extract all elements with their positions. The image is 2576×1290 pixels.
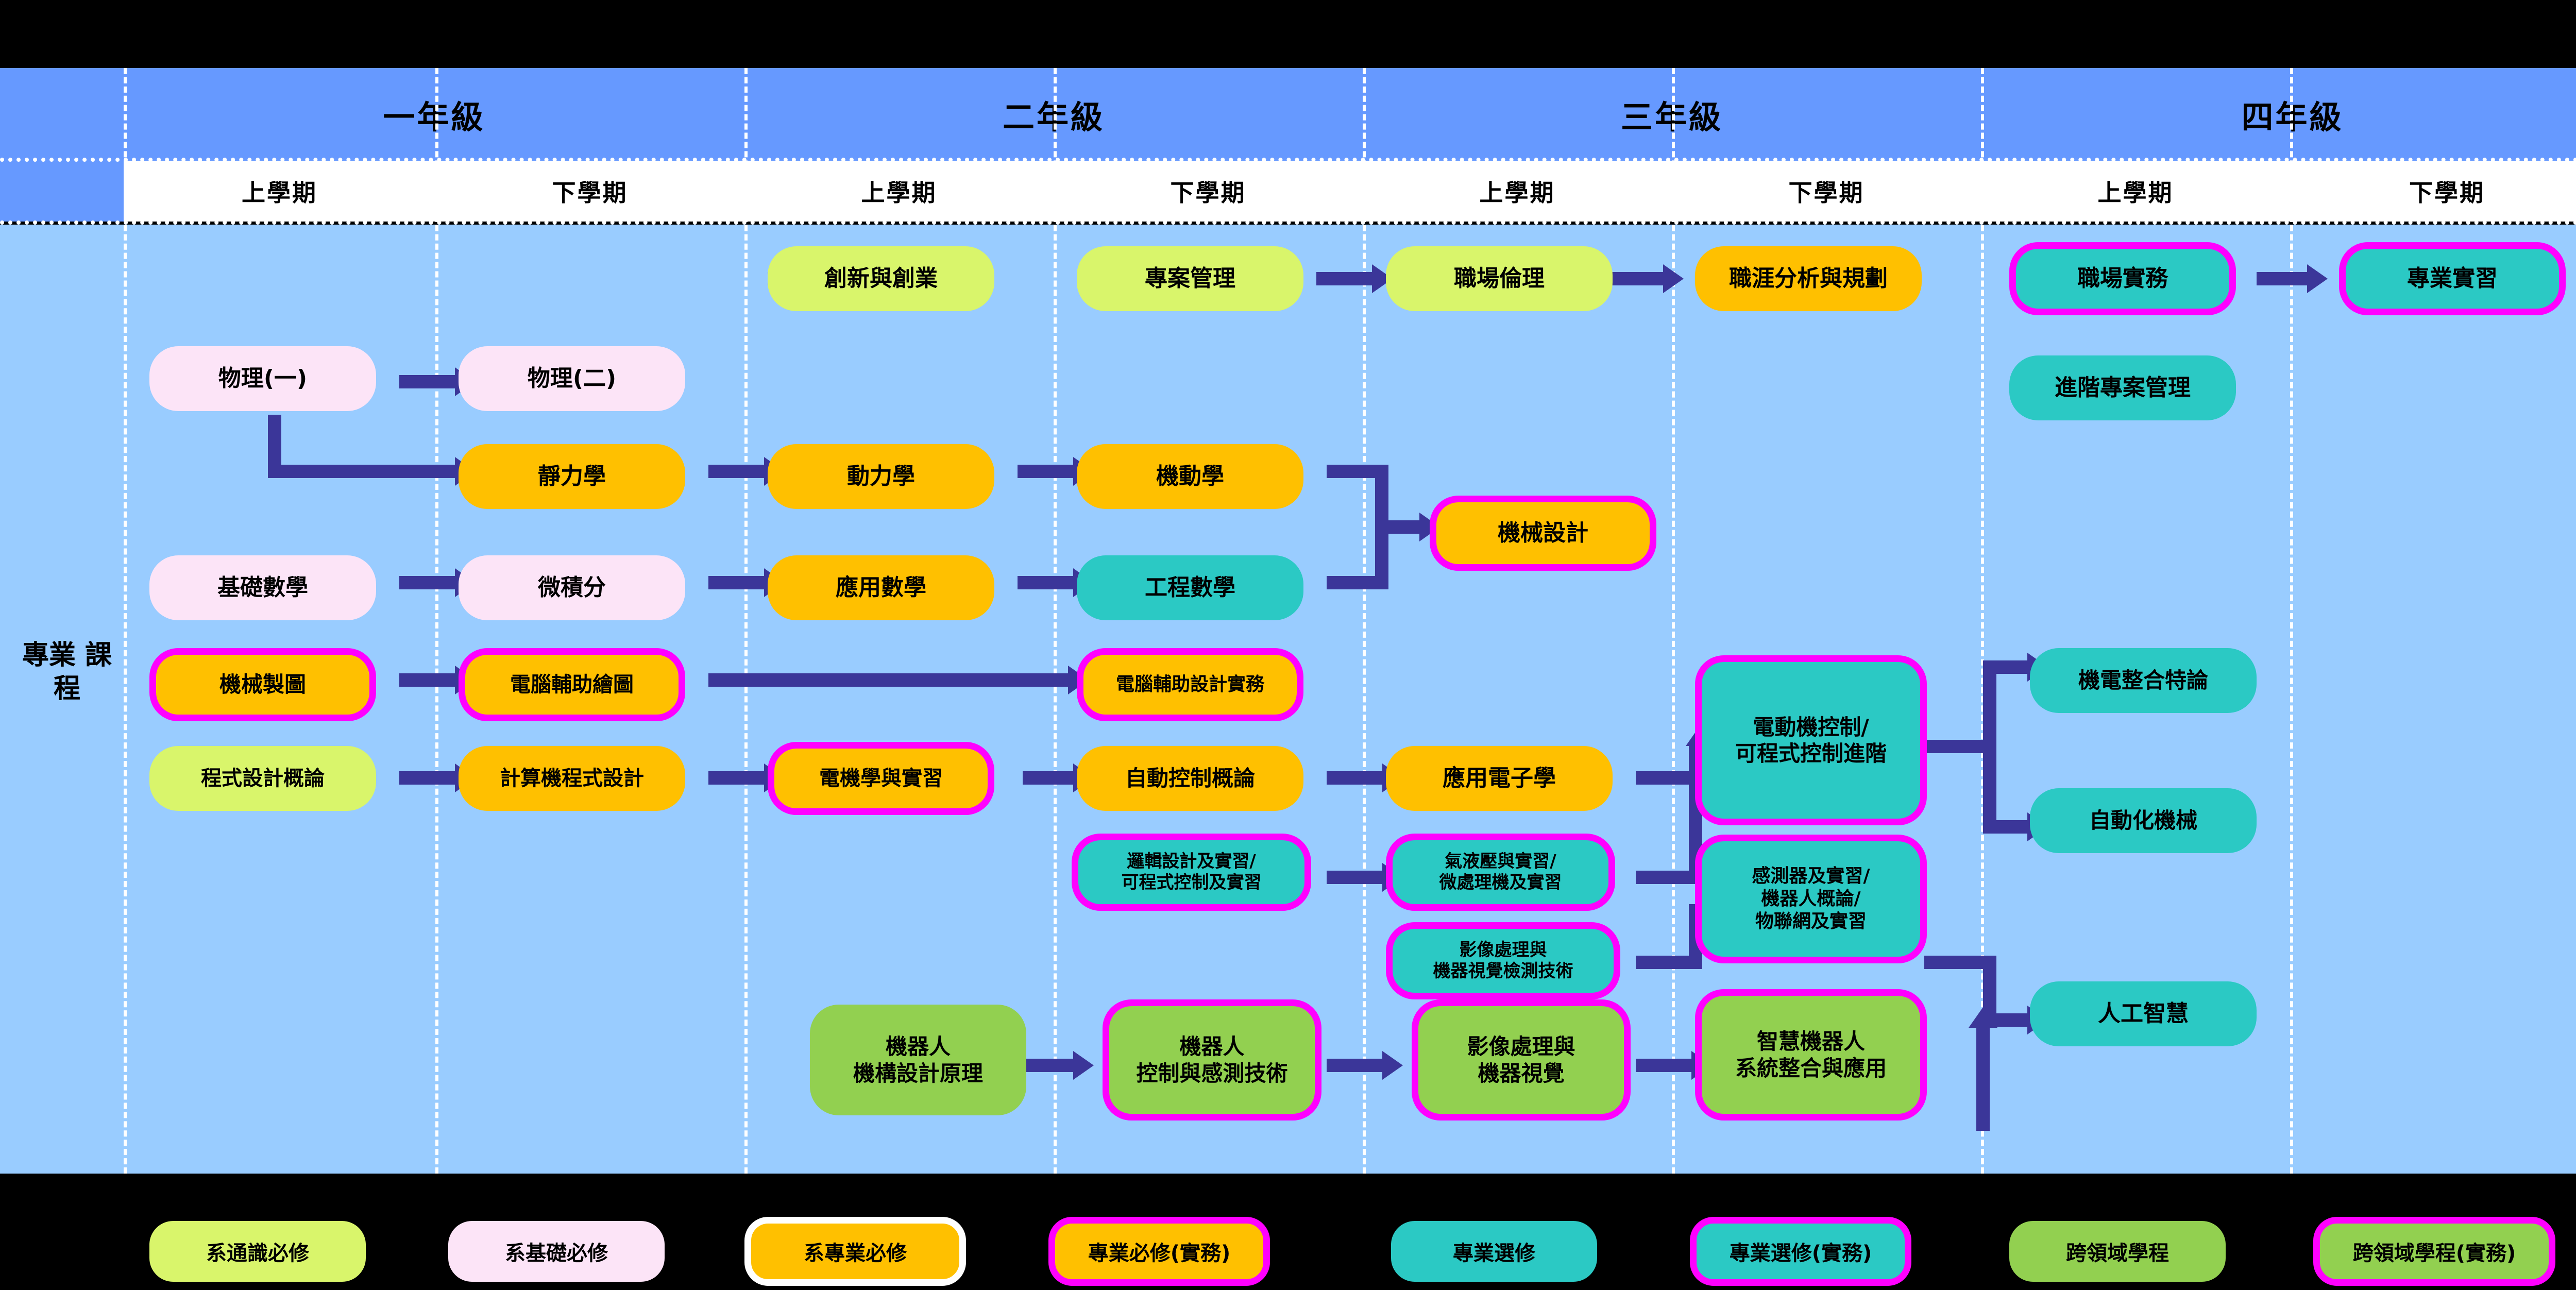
row-group-label: 專業 課程 <box>15 639 118 706</box>
course-box-c4[interactable]: 職涯分析與規劃 <box>1695 246 1922 311</box>
connector <box>1375 520 1421 534</box>
connector <box>1018 465 1074 478</box>
connector <box>399 771 456 785</box>
connector <box>708 673 1069 687</box>
arrowhead-icon <box>1663 264 1684 293</box>
connector <box>1327 871 1383 884</box>
course-box-c32[interactable]: 影像處理與 機器視覺檢測技術 <box>1386 922 1620 999</box>
connector <box>268 465 459 478</box>
course-box-c26[interactable]: 應用電子學 <box>1386 746 1613 811</box>
course-box-c28[interactable]: 自動化機械 <box>2030 788 2257 853</box>
column-divider <box>2290 68 2293 1174</box>
course-box-c1[interactable]: 創新與創業 <box>768 246 994 311</box>
course-box-c3[interactable]: 職場倫理 <box>1386 246 1613 311</box>
course-box-c11[interactable]: 動力學 <box>768 444 994 509</box>
course-box-c29[interactable]: 邏輯設計及實習/ 可程式控制及實習 <box>1072 834 1311 911</box>
semester-header-3y1: 上學期 <box>1363 161 1672 222</box>
course-box-c37[interactable]: 智慧機器人 系統整合與應用 <box>1695 989 1927 1121</box>
semester-header-1y2: 下學期 <box>435 161 744 222</box>
course-box-c10[interactable]: 靜力學 <box>459 444 685 509</box>
connector <box>708 576 765 589</box>
connector <box>1327 771 1383 785</box>
semester-header-1y1: 上學期 <box>124 161 435 222</box>
course-box-c21[interactable]: 機電整合特論 <box>2030 648 2257 713</box>
column-divider <box>124 68 127 1174</box>
connector <box>708 771 765 785</box>
arrowhead-icon <box>1382 1051 1403 1080</box>
connector <box>1924 956 1991 969</box>
semester-header-3y2: 下學期 <box>1672 161 1981 222</box>
legend-item-major-elective-practice[interactable]: 專業選修(實務) <box>1690 1217 1911 1286</box>
legend-item-cross-domain-practice[interactable]: 跨領域學程(實務) <box>2313 1217 2555 1286</box>
legend-item-major-required[interactable]: 系專業必修 <box>744 1217 966 1286</box>
column-divider <box>1054 68 1057 1174</box>
year-header-4: 四年級 <box>1981 68 2576 161</box>
connector <box>399 375 456 388</box>
legend-item-basic-required[interactable]: 系基礎必修 <box>448 1221 665 1282</box>
course-box-c12[interactable]: 機動學 <box>1077 444 1303 509</box>
column-divider <box>435 68 438 1174</box>
column-divider <box>1363 68 1366 1174</box>
course-box-c23[interactable]: 計算機程式設計 <box>459 746 685 811</box>
course-box-c2[interactable]: 專案管理 <box>1077 246 1303 311</box>
course-box-c24[interactable]: 電機學與實習 <box>768 742 994 815</box>
column-divider <box>1672 68 1675 1174</box>
course-box-c6[interactable]: 專業實習 <box>2339 242 2566 315</box>
course-box-c27[interactable]: 電動機控制/ 可程式控制進階 <box>1695 655 1927 825</box>
connector <box>2257 272 2308 285</box>
semester-header-stub <box>0 161 124 222</box>
course-box-c7[interactable]: 物理(一) <box>149 346 376 411</box>
connector <box>1316 272 1373 285</box>
connector <box>1636 1059 1692 1072</box>
connector <box>1976 1028 1990 1131</box>
connector <box>399 673 456 687</box>
arrowhead-icon <box>1969 1007 1997 1028</box>
legend-item-major-required-practice[interactable]: 專業必修(實務) <box>1048 1217 1270 1286</box>
course-box-c25[interactable]: 自動控制概論 <box>1077 746 1303 811</box>
course-box-c5[interactable]: 職場實務 <box>2009 242 2236 315</box>
semester-header-4y1: 上學期 <box>1981 161 2290 222</box>
course-box-c22[interactable]: 程式設計概論 <box>149 746 376 811</box>
connector <box>1018 576 1074 589</box>
course-box-c31[interactable]: 感測器及實習/ 機器人概論/ 物聯網及實習 <box>1695 835 1927 963</box>
course-box-c30[interactable]: 氣液壓與實習/ 微處理機及實習 <box>1386 834 1615 911</box>
course-box-c19[interactable]: 電腦輔助繪圖 <box>459 648 685 721</box>
legend-item-general-required[interactable]: 系通識必修 <box>149 1221 366 1282</box>
arrowhead-icon <box>1073 1051 1094 1080</box>
course-box-c35[interactable]: 機器人 控制與感測技術 <box>1103 999 1321 1121</box>
connector <box>1636 871 1695 884</box>
course-box-c18[interactable]: 機械製圖 <box>149 648 376 721</box>
semester-header-2y2: 下學期 <box>1054 161 1363 222</box>
arrowhead-icon <box>2307 264 2328 293</box>
connector <box>1327 1059 1383 1072</box>
connector <box>1983 660 1996 834</box>
year-header-1: 一年級 <box>124 68 744 161</box>
course-box-c16[interactable]: 應用數學 <box>768 555 994 620</box>
connector <box>1636 771 1695 785</box>
connector <box>268 415 281 471</box>
connector <box>1023 771 1074 785</box>
course-box-c13[interactable]: 機械設計 <box>1430 496 1656 571</box>
course-box-c36[interactable]: 影像處理與 機器視覺 <box>1412 999 1631 1121</box>
legend-item-cross-domain[interactable]: 跨領域學程 <box>2009 1221 2226 1282</box>
semester-header-2y1: 上學期 <box>744 161 1054 222</box>
course-box-c20[interactable]: 電腦輔助設計實務 <box>1077 648 1303 721</box>
connector <box>1983 660 2029 674</box>
semester-header-4y2: 下學期 <box>2290 161 2576 222</box>
legend-item-major-elective[interactable]: 專業選修 <box>1391 1221 1597 1282</box>
course-box-c15[interactable]: 微積分 <box>459 555 685 620</box>
connector <box>1636 956 1698 969</box>
curriculum-flowchart: 一年級 二年級 三年級 四年級 上學期 下學期 上學期 下學期 上學期 下學期 … <box>0 0 2576 1290</box>
course-box-c33[interactable]: 人工智慧 <box>2030 981 2257 1046</box>
course-box-c34[interactable]: 機器人 機構設計原理 <box>810 1005 1026 1115</box>
connector <box>399 576 456 589</box>
column-divider <box>744 68 748 1174</box>
connector <box>708 465 765 478</box>
course-box-c9[interactable]: 進階專案管理 <box>2009 355 2236 420</box>
course-box-c17[interactable]: 工程數學 <box>1077 555 1303 620</box>
course-box-c14[interactable]: 基礎數學 <box>149 555 376 620</box>
course-box-c8[interactable]: 物理(二) <box>459 346 685 411</box>
connector <box>1983 820 2029 834</box>
